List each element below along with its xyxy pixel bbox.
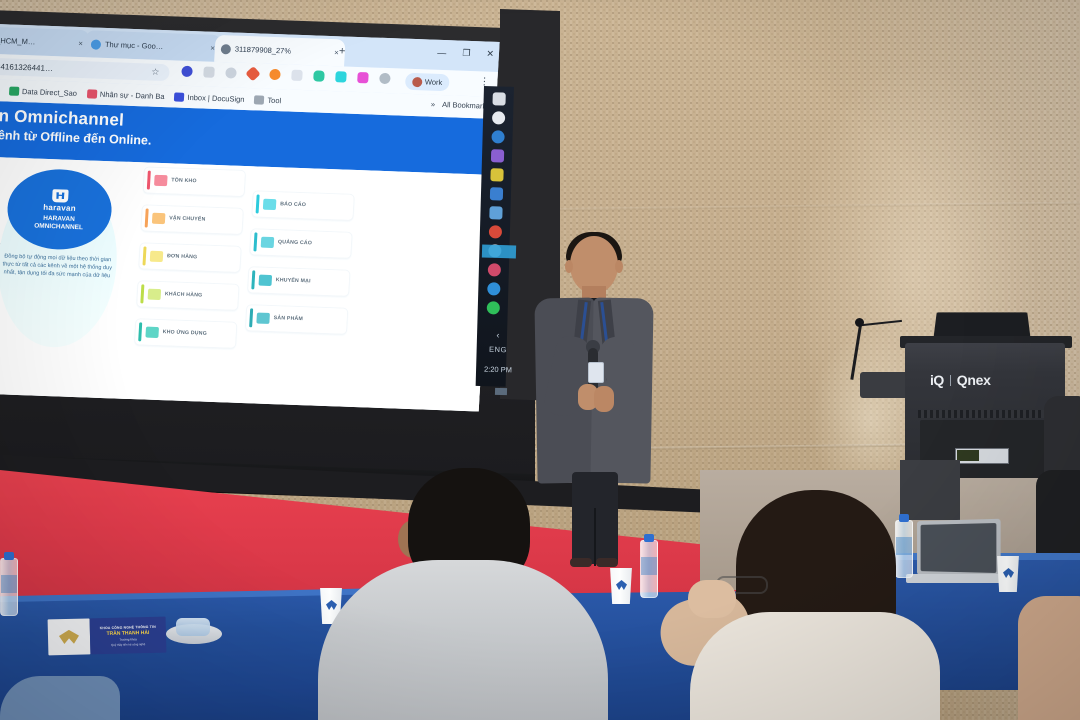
- bookmarks-bar-right: » All Bookmarks: [431, 100, 491, 111]
- university-logo-icon: [59, 630, 79, 644]
- card-label: KHÁCH HÀNG: [165, 291, 203, 299]
- bottle-label: [1, 575, 17, 593]
- podium-logo-right: Qnex: [957, 372, 991, 388]
- speaker-shoe-left: [570, 558, 592, 567]
- bottle-cap: [644, 534, 654, 542]
- placard-name: TRẦN THANH HẢI: [106, 629, 149, 636]
- bookmark-item[interactable]: Inbox | DocuSign: [174, 92, 244, 103]
- tab-favicon-icon: [91, 39, 102, 49]
- card-accent-bar: [147, 171, 151, 190]
- bottle-label: [896, 537, 912, 555]
- card-label: SẢN PHẨM: [273, 315, 303, 323]
- profile-label: Work: [425, 77, 443, 87]
- card-accent-bar: [145, 208, 149, 227]
- bookmark-label: Data Direct_Sao: [22, 86, 78, 97]
- maximize-icon[interactable]: ❐: [462, 48, 471, 59]
- extension-icon-group: [181, 66, 390, 84]
- photos-icon[interactable]: [487, 263, 500, 276]
- extension-refresh-icon[interactable]: [379, 73, 391, 84]
- card-accent-bar: [249, 308, 253, 327]
- tray-expand-icon[interactable]: ‹: [482, 330, 514, 341]
- tab-title: Event_HCM_M…: [0, 35, 36, 46]
- search-icon[interactable]: [491, 111, 504, 124]
- ads-icon: [261, 237, 275, 248]
- card-label: QUẢNG CÁO: [278, 239, 312, 247]
- cup-logo-icon: [616, 580, 627, 590]
- speaker-ear-right: [615, 260, 623, 273]
- projected-browser-window: Event_HCM_M… × Thư mục - Goo… × 31187990…: [0, 22, 500, 412]
- bookmarks-overflow-icon[interactable]: »: [431, 100, 436, 109]
- speaker-id-badge: [588, 362, 604, 383]
- taskbar-clock[interactable]: 2:20 PM: [482, 365, 514, 375]
- podium-logo: iQ Qnex: [930, 372, 1040, 388]
- bookmark-favicon-icon: [174, 92, 185, 101]
- messenger-icon[interactable]: [487, 282, 500, 295]
- water-bottle: [895, 520, 913, 578]
- slide-card-quang-cao: QUẢNG CÁO: [249, 228, 352, 259]
- language-indicator[interactable]: ENG: [482, 345, 514, 355]
- extension-grammarly-icon[interactable]: [313, 70, 325, 81]
- speaker-shoe-right: [596, 558, 618, 567]
- taskbar-active-indicator: [482, 245, 516, 259]
- promotion-icon: [258, 275, 272, 286]
- card-accent-bar: [256, 194, 260, 213]
- extension-video-icon[interactable]: [357, 72, 369, 83]
- slide-card-khuyen-mai: KHUYẾN MẠI: [247, 266, 350, 297]
- cup-logo-icon: [1003, 568, 1014, 578]
- audience-body-right: [690, 612, 940, 720]
- podium-sticker-label: [955, 448, 1009, 464]
- bookmark-label: Nhân sự - Danh Ba: [100, 89, 165, 100]
- bookmark-star-icon[interactable]: ☆: [151, 67, 160, 78]
- excel-icon[interactable]: [490, 168, 503, 181]
- podium-logo-left: iQ: [930, 372, 944, 388]
- edge-icon[interactable]: [491, 130, 504, 143]
- teams-icon[interactable]: [490, 149, 503, 162]
- whatsapp-icon[interactable]: [486, 301, 499, 314]
- extension-gear-icon[interactable]: [269, 69, 281, 80]
- podium-vent: [918, 410, 1048, 418]
- drinking-glass: [176, 618, 210, 636]
- bookmark-label: Tool: [267, 95, 281, 104]
- name-placard: KHOA CÔNG NGHỆ THÔNG TIN TRẦN THANH HẢI …: [48, 617, 167, 656]
- avatar: [412, 76, 423, 86]
- water-bottle: [0, 558, 18, 616]
- order-icon: [150, 251, 164, 262]
- laptop: [912, 520, 1004, 582]
- paper-cup: [608, 568, 634, 604]
- customer-icon: [148, 289, 162, 300]
- sticker-badge-icon: [957, 450, 979, 461]
- audience-person-far-left: [0, 676, 120, 720]
- taskbar-show-desktop[interactable]: [495, 388, 507, 395]
- laptop-base: [906, 574, 1010, 583]
- report-icon: [263, 199, 277, 210]
- shipping-icon: [152, 213, 166, 224]
- bookmark-item[interactable]: Nhân sự - Danh Ba: [87, 89, 165, 101]
- podium-logo-separator: [950, 375, 951, 386]
- bookmark-favicon-icon: [87, 89, 98, 98]
- bottle-cap: [899, 514, 909, 522]
- haravan-brand-label: haravan: [43, 202, 76, 212]
- card-label: VẬN CHUYỂN: [169, 216, 206, 224]
- card-accent-bar: [140, 284, 144, 303]
- speaker-person: [534, 236, 654, 566]
- paper-cup: [995, 556, 1021, 592]
- placard-role: Trưởng khoa: [119, 637, 136, 641]
- tab-favicon-icon: [221, 44, 232, 54]
- tray-with-glass: [166, 624, 222, 644]
- speaker-leg-split: [594, 508, 596, 566]
- audience-hand-right: [688, 580, 736, 618]
- slide-card-ton-kho: TỒN KHO: [143, 166, 246, 197]
- close-icon[interactable]: ×: [78, 39, 83, 48]
- minimize-icon[interactable]: —: [437, 47, 447, 57]
- extension-diamond-icon[interactable]: [245, 66, 261, 82]
- slide-card-kho-ung-dung: KHO ỨNG DỤNG: [134, 318, 237, 349]
- presentation-slide: Haravan Omnichannel đàng đa kênh từ Offl…: [0, 99, 495, 412]
- zalo-icon[interactable]: [489, 187, 502, 200]
- folder-icon[interactable]: [489, 206, 502, 219]
- tab-title: 311879908_27%: [235, 45, 292, 56]
- new-tab-button[interactable]: +: [339, 45, 346, 57]
- bookmark-favicon-icon: [9, 86, 20, 95]
- podium-side-cabinet: [900, 460, 960, 520]
- bookmark-item[interactable]: Tool: [254, 95, 281, 105]
- chrome-icon[interactable]: [488, 225, 501, 238]
- address-bar[interactable]: 7617273_5924161326441…: [0, 56, 170, 81]
- slide-center-title-line1: HARAVAN: [43, 214, 75, 222]
- card-label: TỒN KHO: [171, 178, 197, 185]
- inventory-icon: [154, 175, 168, 186]
- water-bottle: [640, 540, 658, 598]
- slide-card-van-chuyen: VẬN CHUYỂN: [140, 204, 243, 235]
- bottle-label: [641, 557, 657, 575]
- card-accent-bar: [138, 322, 142, 341]
- extension-blue-icon[interactable]: [181, 66, 193, 77]
- tab-title: Thư mục - Goo…: [105, 40, 164, 51]
- extension-square-icon[interactable]: [335, 71, 347, 82]
- placard-text-panel: KHOA CÔNG NGHỆ THÔNG TIN TRẦN THANH HẢI …: [90, 617, 167, 655]
- haravan-logo-icon: [52, 189, 69, 203]
- window-controls: — ❐ ✕: [437, 47, 494, 60]
- browser-tab[interactable]: Event_HCM_M… ×: [0, 26, 90, 58]
- mail-icon[interactable]: [492, 92, 505, 105]
- card-accent-bar: [142, 246, 146, 265]
- slide-card-don-hang: ĐƠN HÀNG: [138, 242, 241, 273]
- slide-body: PHÁT TRIỂN WEBSITE LOYALTY & CUSTOMER EN…: [0, 155, 492, 412]
- extension-camera-icon[interactable]: [225, 67, 237, 78]
- podium-mic-head: [855, 318, 864, 327]
- browser-chrome: Event_HCM_M… × Thư mục - Goo… × 31187990…: [0, 22, 500, 412]
- address-bar-value: 7617273_5924161326441…: [0, 60, 53, 73]
- card-label: KHUYẾN MẠI: [276, 277, 311, 285]
- bookmark-label: Inbox | DocuSign: [187, 92, 244, 103]
- speaker-hand-right: [594, 386, 614, 412]
- slide-card-bao-cao: BÁO CÁO: [251, 190, 354, 221]
- slide-card-khach-hang: KHÁCH HÀNG: [136, 280, 239, 311]
- card-label: KHO ỨNG DỤNG: [163, 329, 208, 337]
- screenshot-scene: Event_HCM_M… × Thư mục - Goo… × 31187990…: [0, 0, 1080, 720]
- extension-window-icon[interactable]: [203, 66, 215, 77]
- cup-logo-icon: [326, 600, 337, 610]
- folder-icon: [254, 95, 265, 104]
- speaker-ear-left: [565, 260, 573, 273]
- app-store-icon: [145, 327, 159, 338]
- card-accent-bar: [251, 270, 255, 289]
- bookmark-item[interactable]: Data Direct_Sao: [9, 86, 77, 97]
- extension-note-icon[interactable]: [291, 70, 303, 81]
- bottle-cap: [4, 552, 14, 560]
- placard-logo-panel: [48, 618, 91, 655]
- card-accent-bar: [253, 232, 257, 251]
- card-label: ĐƠN HÀNG: [167, 254, 198, 262]
- slide-center-description: Đồng bộ tự động mọi dữ liệu theo thời gi…: [2, 252, 113, 280]
- placard-subtitle: Quý thầy tiến hệ công nghệ: [111, 642, 145, 647]
- card-label: BÁO CÁO: [280, 202, 306, 209]
- close-window-icon[interactable]: ✕: [486, 49, 494, 60]
- laptop-screen: [921, 523, 997, 573]
- profile-button[interactable]: Work: [404, 73, 449, 92]
- audience-person-far-right: [1018, 596, 1080, 720]
- slide-card-san-pham: SẢN PHẨM: [245, 304, 348, 335]
- slide-center-title-line2: OMNICHANNEL: [34, 222, 83, 231]
- product-icon: [256, 313, 270, 324]
